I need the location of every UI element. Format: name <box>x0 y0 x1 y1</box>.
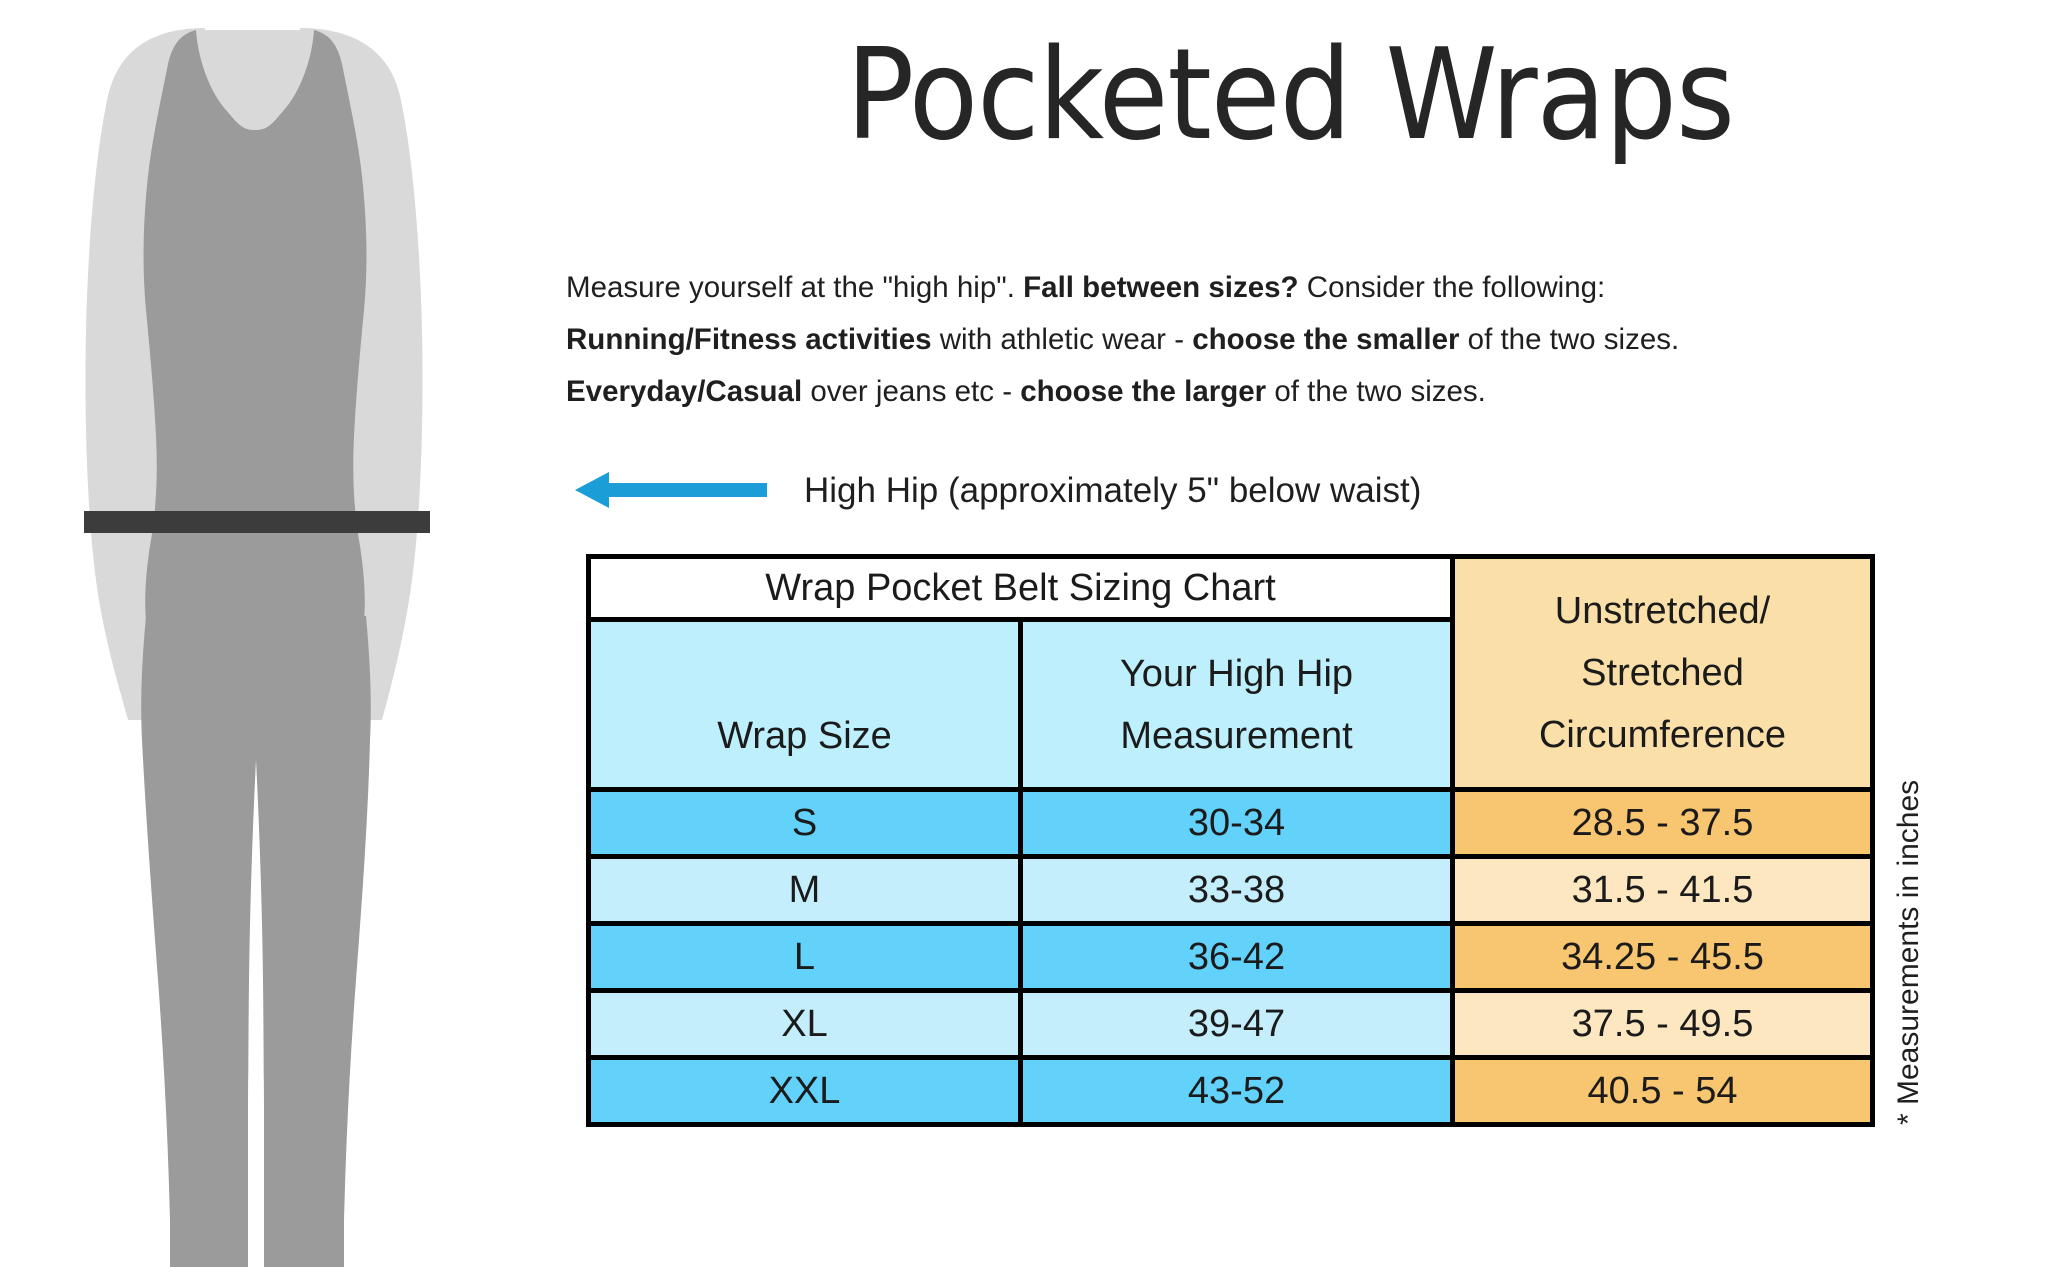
cell-size: M <box>589 857 1021 924</box>
table-row: L 36-42 34.25 - 45.5 <box>589 924 1873 991</box>
figure-panel <box>0 0 520 1267</box>
intro-line-3-part-d: of the two sizes. <box>1266 375 1486 408</box>
header-wrap-size: Wrap Size <box>589 620 1021 790</box>
intro-line-2-bold-c: choose the smaller <box>1192 323 1459 356</box>
intro-text: Measure yourself at the "high hip". Fall… <box>566 262 2036 418</box>
intro-line-1-bold: Fall between sizes? <box>1023 271 1298 304</box>
cell-circumference: 34.25 - 45.5 <box>1453 924 1873 991</box>
header-high-hip-line-1: Your High Hip <box>1023 643 1450 705</box>
table-row: XXL 43-52 40.5 - 54 <box>589 1058 1873 1125</box>
intro-line-1: Measure yourself at the "high hip". Fall… <box>566 262 2036 314</box>
page-title: Pocketed Wraps <box>560 26 2020 165</box>
intro-line-3-part-b: over jeans etc - <box>802 375 1020 408</box>
cell-size: L <box>589 924 1021 991</box>
header-circumference: Unstretched/ Stretched Circumference <box>1453 557 1873 790</box>
cell-size: XL <box>589 991 1021 1058</box>
sizing-chart-table: Wrap Pocket Belt Sizing Chart Unstretche… <box>586 554 1875 1127</box>
intro-line-3-bold-c: choose the larger <box>1020 375 1266 408</box>
cell-measurement: 43-52 <box>1021 1058 1453 1125</box>
cell-circumference: 28.5 - 37.5 <box>1453 790 1873 857</box>
high-hip-label: High Hip (approximately 5" below waist) <box>804 473 1421 508</box>
header-high-hip-line-2: Measurement <box>1023 705 1450 767</box>
header-wrap-size-label: Wrap Size <box>591 705 1018 767</box>
cell-size: S <box>589 790 1021 857</box>
intro-line-2-bold-a: Running/Fitness activities <box>566 323 932 356</box>
table-row: M 33-38 31.5 - 41.5 <box>589 857 1873 924</box>
table-row: XL 39-47 37.5 - 49.5 <box>589 991 1873 1058</box>
intro-line-2-part-b: with athletic wear - <box>932 323 1193 356</box>
cell-measurement: 36-42 <box>1021 924 1453 991</box>
measurements-unit-footnote: * Measurements in inches <box>1892 585 1926 1125</box>
high-hip-callout: High Hip (approximately 5" below waist) <box>575 468 1421 512</box>
high-hip-belt-band <box>84 511 430 533</box>
left-arrow-icon <box>575 468 767 512</box>
cell-measurement: 33-38 <box>1021 857 1453 924</box>
cell-circumference: 31.5 - 41.5 <box>1453 857 1873 924</box>
intro-line-1-part-a: Measure yourself at the "high hip". <box>566 271 1023 304</box>
intro-line-2-part-d: of the two sizes. <box>1459 323 1679 356</box>
table-title-cell: Wrap Pocket Belt Sizing Chart <box>589 557 1453 620</box>
cell-circumference: 37.5 - 49.5 <box>1453 991 1873 1058</box>
sizing-chart-container: Wrap Pocket Belt Sizing Chart Unstretche… <box>586 554 1870 1127</box>
cell-measurement: 39-47 <box>1021 991 1453 1058</box>
table-row: S 30-34 28.5 - 37.5 <box>589 790 1873 857</box>
table-title-row: Wrap Pocket Belt Sizing Chart Unstretche… <box>589 557 1873 620</box>
header-circumference-line-1: Unstretched/ <box>1455 580 1870 642</box>
header-circumference-line-3: Circumference <box>1455 704 1870 766</box>
cell-circumference: 40.5 - 54 <box>1453 1058 1873 1125</box>
intro-line-3: Everyday/Casual over jeans etc - choose … <box>566 366 2036 418</box>
intro-line-3-bold-a: Everyday/Casual <box>566 375 802 408</box>
intro-line-2: Running/Fitness activities with athletic… <box>566 314 2036 366</box>
header-circumference-line-2: Stretched <box>1455 642 1870 704</box>
cell-measurement: 30-34 <box>1021 790 1453 857</box>
intro-line-1-part-c: Consider the following: <box>1299 271 1606 304</box>
cell-size: XXL <box>589 1058 1021 1125</box>
header-high-hip-measurement: Your High Hip Measurement <box>1021 620 1453 790</box>
female-torso-silhouette-icon <box>0 0 520 1267</box>
